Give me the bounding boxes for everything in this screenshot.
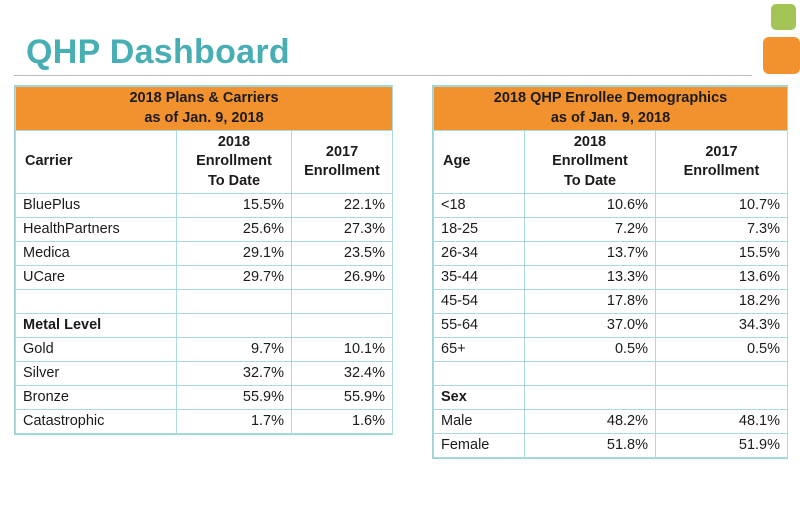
row-label (434, 361, 525, 385)
column-header-2017-enrollment: 2017 Enrollment (292, 131, 393, 194)
row-label: Medica (16, 241, 177, 265)
value-2018: 25.6% (177, 217, 292, 241)
table-row: <1810.6%10.7% (434, 193, 788, 217)
value-2018: 13.3% (525, 265, 656, 289)
decorative-green-square (771, 4, 796, 30)
header-2017-line1: 2017 (299, 143, 385, 162)
row-label: Silver (16, 361, 177, 385)
table-row: Bronze55.9%55.9% (16, 385, 393, 409)
row-label: 35-44 (434, 265, 525, 289)
table-banner-cell: 2018 Plans & Carriers as of Jan. 9, 2018 (16, 87, 393, 131)
table-row: HealthPartners25.6%27.3% (16, 217, 393, 241)
value-2018: 51.8% (525, 433, 656, 457)
row-label: 18-25 (434, 217, 525, 241)
table-row: Female51.8%51.9% (434, 433, 788, 457)
table-row: 35-4413.3%13.6% (434, 265, 788, 289)
value-2017 (292, 313, 393, 337)
value-2017: 34.3% (656, 313, 788, 337)
value-2018: 37.0% (525, 313, 656, 337)
row-label: 55-64 (434, 313, 525, 337)
row-label: 45-54 (434, 289, 525, 313)
value-2017 (656, 361, 788, 385)
value-2018 (525, 385, 656, 409)
value-2017: 13.6% (656, 265, 788, 289)
header-2018-line1: 2018 (532, 133, 648, 152)
header-divider (14, 75, 752, 76)
value-2017: 0.5% (656, 337, 788, 361)
table-row: Male48.2%48.1% (434, 409, 788, 433)
table-row: Silver32.7%32.4% (16, 361, 393, 385)
value-2018: 13.7% (525, 241, 656, 265)
table-row: BluePlus15.5%22.1% (16, 193, 393, 217)
row-label: Catastrophic (16, 409, 177, 433)
table-banner-header: 2018 Plans & Carriers as of Jan. 9, 2018 (16, 87, 393, 131)
row-label: 26-34 (434, 241, 525, 265)
value-2018: 55.9% (177, 385, 292, 409)
value-2017: 15.5% (656, 241, 788, 265)
value-2018: 0.5% (525, 337, 656, 361)
value-2018: 7.2% (525, 217, 656, 241)
column-header-2017-enrollment: 2017 Enrollment (656, 131, 788, 194)
value-2017: 55.9% (292, 385, 393, 409)
value-2017: 23.5% (292, 241, 393, 265)
value-2017: 51.9% (656, 433, 788, 457)
value-2018 (177, 289, 292, 313)
value-2018: 17.8% (525, 289, 656, 313)
table-row: UCare29.7%26.9% (16, 265, 393, 289)
header-2018-line2: Enrollment (532, 152, 648, 171)
value-2018 (525, 361, 656, 385)
value-2018: 15.5% (177, 193, 292, 217)
value-2018 (177, 313, 292, 337)
demographics-table: 2018 QHP Enrollee Demographics as of Jan… (433, 86, 788, 458)
header-2017-line1: 2017 (663, 143, 780, 162)
value-2018: 9.7% (177, 337, 292, 361)
header-2018-line3: To Date (532, 172, 648, 191)
banner-line-1: 2018 QHP Enrollee Demographics (441, 89, 780, 109)
column-header-row: Age 2018 Enrollment To Date 2017 Enrollm… (434, 131, 788, 194)
plans-carriers-table-container: 2018 Plans & Carriers as of Jan. 9, 2018… (14, 85, 393, 435)
decorative-orange-square (763, 37, 800, 74)
header-2017-line2: Enrollment (299, 162, 385, 181)
value-2018: 29.1% (177, 241, 292, 265)
table-row: Catastrophic1.7%1.6% (16, 409, 393, 433)
row-label: BluePlus (16, 193, 177, 217)
column-header-carrier: Carrier (16, 131, 177, 194)
row-label: Gold (16, 337, 177, 361)
value-2017: 7.3% (656, 217, 788, 241)
row-label: <18 (434, 193, 525, 217)
plans-carriers-rows: BluePlus15.5%22.1%HealthPartners25.6%27.… (16, 193, 393, 433)
table-row: 45-5417.8%18.2% (434, 289, 788, 313)
value-2018: 32.7% (177, 361, 292, 385)
plans-carriers-table: 2018 Plans & Carriers as of Jan. 9, 2018… (15, 86, 393, 434)
value-2017: 48.1% (656, 409, 788, 433)
value-2017: 10.1% (292, 337, 393, 361)
banner-line-1: 2018 Plans & Carriers (23, 89, 385, 109)
value-2017: 18.2% (656, 289, 788, 313)
row-label: UCare (16, 265, 177, 289)
table-banner-header: 2018 QHP Enrollee Demographics as of Jan… (434, 87, 788, 131)
row-label (16, 289, 177, 313)
value-2017: 10.7% (656, 193, 788, 217)
row-label: Female (434, 433, 525, 457)
value-2018: 10.6% (525, 193, 656, 217)
header-2017-line2: Enrollment (663, 162, 780, 181)
demographics-table-container: 2018 QHP Enrollee Demographics as of Jan… (432, 85, 788, 459)
column-header-row: Carrier 2018 Enrollment To Date 2017 Enr… (16, 131, 393, 194)
table-row: Gold9.7%10.1% (16, 337, 393, 361)
section-header-row: Metal Level (16, 313, 393, 337)
table-row: Medica29.1%23.5% (16, 241, 393, 265)
value-2017: 26.9% (292, 265, 393, 289)
value-2018: 29.7% (177, 265, 292, 289)
table-banner-cell: 2018 QHP Enrollee Demographics as of Jan… (434, 87, 788, 131)
table-row: 18-257.2%7.3% (434, 217, 788, 241)
value-2017: 27.3% (292, 217, 393, 241)
table-row: 55-6437.0%34.3% (434, 313, 788, 337)
table-row: 26-3413.7%15.5% (434, 241, 788, 265)
header-2018-line1: 2018 (184, 133, 284, 152)
section-header-row: Sex (434, 385, 788, 409)
spacer-row (434, 361, 788, 385)
row-label: HealthPartners (16, 217, 177, 241)
value-2018: 1.7% (177, 409, 292, 433)
row-label: 65+ (434, 337, 525, 361)
value-2017: 1.6% (292, 409, 393, 433)
section-label: Sex (434, 385, 525, 409)
page-title: QHP Dashboard (26, 31, 290, 74)
value-2017 (656, 385, 788, 409)
value-2018: 48.2% (525, 409, 656, 433)
value-2017 (292, 289, 393, 313)
column-header-age: Age (434, 131, 525, 194)
section-label: Metal Level (16, 313, 177, 337)
banner-line-2: as of Jan. 9, 2018 (441, 109, 780, 129)
column-header-2018-enrollment: 2018 Enrollment To Date (177, 131, 292, 194)
header-2018-line3: To Date (184, 172, 284, 191)
spacer-row (16, 289, 393, 313)
value-2017: 22.1% (292, 193, 393, 217)
column-header-2018-enrollment: 2018 Enrollment To Date (525, 131, 656, 194)
banner-line-2: as of Jan. 9, 2018 (23, 109, 385, 129)
table-row: 65+0.5%0.5% (434, 337, 788, 361)
demographics-rows: <1810.6%10.7%18-257.2%7.3%26-3413.7%15.5… (434, 193, 788, 457)
row-label: Bronze (16, 385, 177, 409)
row-label: Male (434, 409, 525, 433)
value-2017: 32.4% (292, 361, 393, 385)
header-2018-line2: Enrollment (184, 152, 284, 171)
